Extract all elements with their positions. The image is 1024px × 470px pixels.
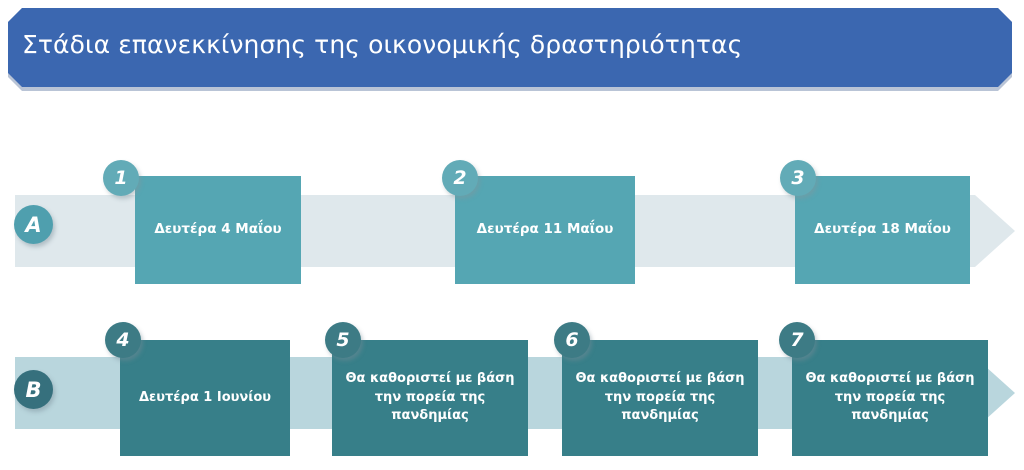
stage-box-1[interactable]: Δευτέρα 4 Μαΐου: [135, 176, 301, 284]
stage-box-7-label: Θα καθοριστεί με βάση την πορεία της παν…: [802, 370, 978, 427]
stage-box-5[interactable]: Θα καθοριστεί με βάση την πορεία της παν…: [332, 340, 528, 456]
stage-box-4[interactable]: Δευτέρα 1 Ιουνίου: [120, 340, 290, 456]
page-title: Στάδια επανεκκίνησης της οικονομικής δρα…: [22, 30, 742, 59]
stage-number-badge-7: 7: [779, 322, 815, 358]
infographic-canvas: Στάδια επανεκκίνησης της οικονομικής δρα…: [0, 0, 1024, 470]
stage-box-2[interactable]: Δευτέρα 11 Μαΐου: [455, 176, 635, 284]
stage-box-6-label: Θα καθοριστεί με βάση την πορεία της παν…: [572, 370, 748, 427]
stage-box-1-label: Δευτέρα 4 Μαΐου: [154, 220, 281, 240]
row-label-badge-a: A: [14, 205, 53, 244]
stage-number-badge-1: 1: [103, 160, 139, 196]
stage-box-2-label: Δευτέρα 11 Μαΐου: [477, 220, 614, 240]
stage-number-badge-4: 4: [105, 322, 141, 358]
stage-box-5-label: Θα καθοριστεί με βάση την πορεία της παν…: [342, 370, 518, 427]
stage-number-badge-5: 5: [325, 322, 361, 358]
stage-box-6[interactable]: Θα καθοριστεί με βάση την πορεία της παν…: [562, 340, 758, 456]
stage-number-badge-6: 6: [554, 322, 590, 358]
row-label-badge-b: B: [14, 370, 53, 409]
stage-box-7[interactable]: Θα καθοριστεί με βάση την πορεία της παν…: [792, 340, 988, 456]
stage-box-3[interactable]: Δευτέρα 18 Μαΐου: [795, 176, 970, 284]
stage-box-4-label: Δευτέρα 1 Ιουνίου: [139, 389, 271, 408]
stage-number-badge-3: 3: [780, 160, 816, 196]
stage-box-3-label: Δευτέρα 18 Μαΐου: [814, 220, 951, 240]
stage-number-badge-2: 2: [442, 160, 478, 196]
